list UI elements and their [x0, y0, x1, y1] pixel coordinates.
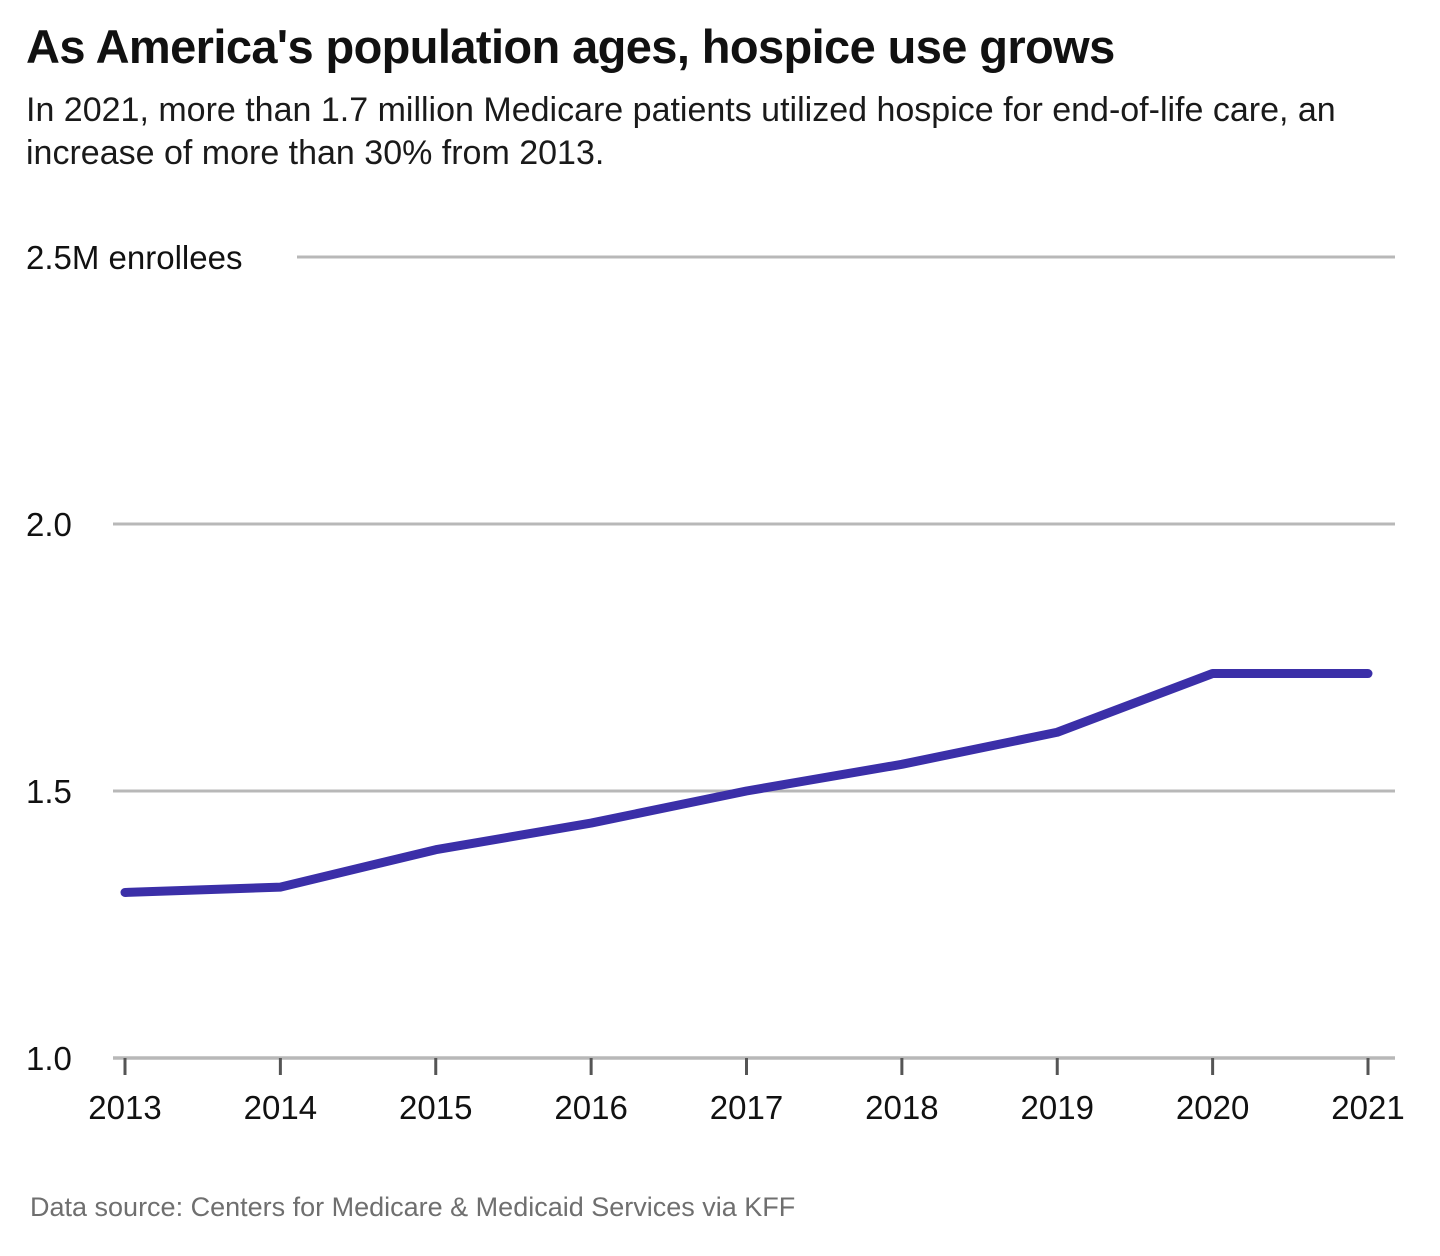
x-tick-label-2020: 2020 [1176, 1091, 1249, 1124]
chart-subtitle: In 2021, more than 1.7 million Medicare … [26, 89, 1386, 176]
line-chart-svg [0, 236, 1440, 1116]
y-tick-label-1: 1.0 [26, 1042, 72, 1075]
x-tick-label-2013: 2013 [88, 1091, 161, 1124]
x-tick-label-2017: 2017 [710, 1091, 783, 1124]
chart-header: As America's population ages, hospice us… [26, 22, 1416, 176]
data-series-line [125, 674, 1368, 893]
chart-plot-area: 1.01.52.02.5M enrollees 2013201420152016… [0, 236, 1440, 1116]
chart-page: As America's population ages, hospice us… [0, 0, 1440, 1256]
data-source-caption: Data source: Centers for Medicare & Medi… [30, 1192, 795, 1223]
x-tick-label-2018: 2018 [865, 1091, 938, 1124]
x-tick-label-2014: 2014 [244, 1091, 317, 1124]
x-tick-label-2016: 2016 [554, 1091, 627, 1124]
x-tick-label-2021: 2021 [1331, 1091, 1404, 1124]
x-tick-label-2015: 2015 [399, 1091, 472, 1124]
x-tick-label-2019: 2019 [1021, 1091, 1094, 1124]
gridlines [113, 257, 1395, 1058]
y-tick-label-1.5: 1.5 [26, 775, 72, 808]
y-tick-label-2: 2.0 [26, 508, 72, 541]
y-tick-label-2.5: 2.5M enrollees [26, 241, 242, 274]
page-title: As America's population ages, hospice us… [26, 22, 1416, 73]
x-axis-ticks [125, 1058, 1368, 1075]
